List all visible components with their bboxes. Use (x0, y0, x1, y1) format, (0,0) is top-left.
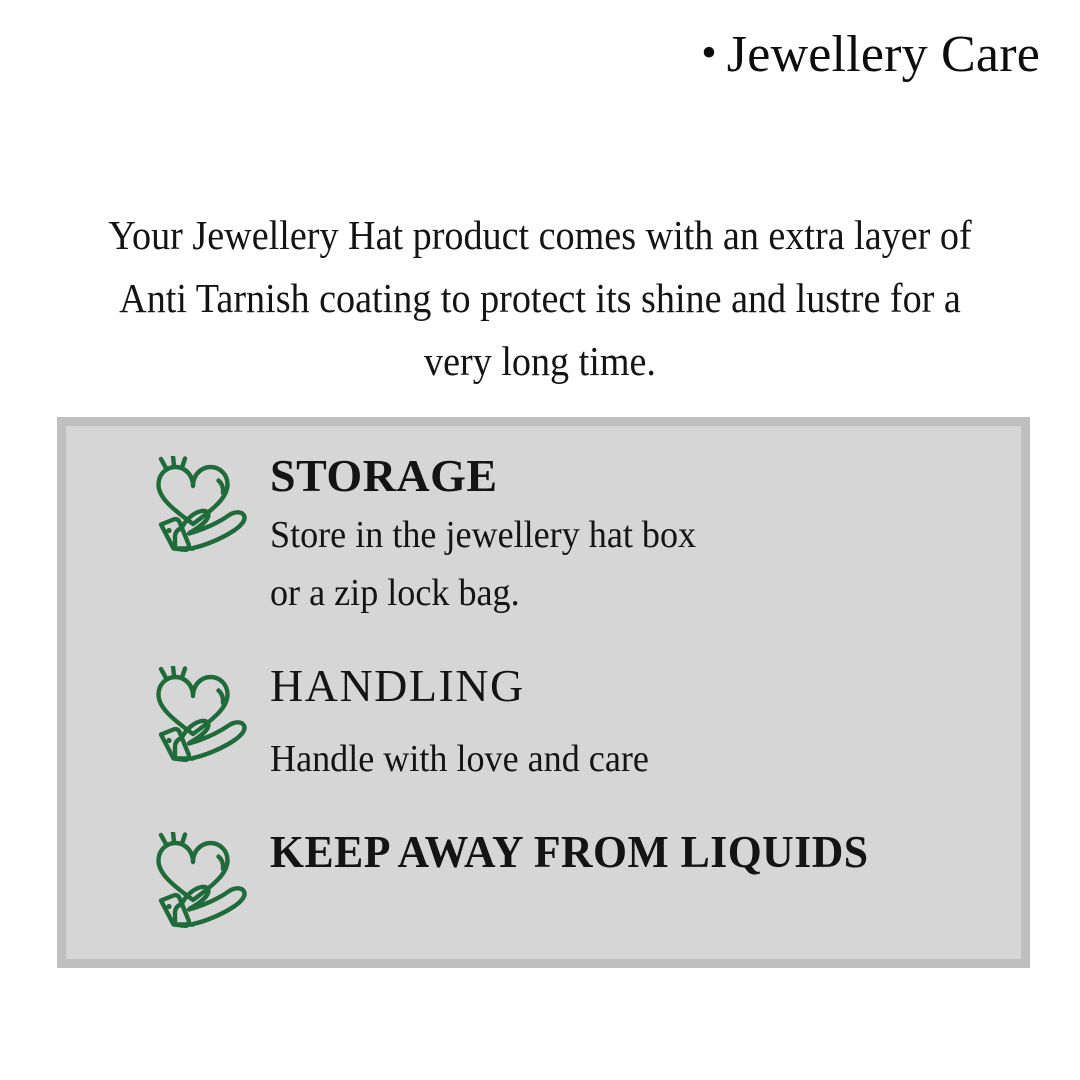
care-item-lines: Store in the jewellery hat box or a zip … (270, 506, 719, 622)
care-item-text: STORAGE Store in the jewellery hat box o… (270, 450, 719, 622)
care-item-keep-away-from-liquids: KEEP AWAY FROM LIQUIDS (146, 826, 900, 928)
hand-holding-heart-icon (146, 832, 250, 928)
care-item-lines: Handle with love and care (270, 730, 669, 788)
care-instructions-list: STORAGE Store in the jewellery hat box o… (66, 426, 1021, 959)
care-item-text: HANDLING Handle with love and care (270, 660, 669, 788)
care-item-line: Handle with love and care (270, 730, 649, 788)
care-item-line: or a zip lock bag. (270, 564, 696, 622)
jewellery-care-page: •Jewellery Care Your Jewellery Hat produ… (0, 0, 1080, 1080)
care-item-storage: STORAGE Store in the jewellery hat box o… (146, 450, 719, 622)
care-item-handling: HANDLING Handle with love and care (146, 660, 669, 788)
page-title-label: Jewellery Care (727, 26, 1040, 83)
care-item-heading: HANDLING (270, 662, 669, 710)
care-item-heading: STORAGE (270, 452, 719, 500)
care-item-text: KEEP AWAY FROM LIQUIDS (270, 826, 900, 876)
care-instructions-card: STORAGE Store in the jewellery hat box o… (57, 417, 1030, 968)
care-item-heading: KEEP AWAY FROM LIQUIDS (270, 828, 869, 876)
hand-holding-heart-icon (146, 456, 250, 552)
page-title-text: •Jewellery Care (701, 26, 1040, 83)
page-title: •Jewellery Care (0, 26, 1040, 83)
care-item-line: Store in the jewellery hat box (270, 506, 696, 564)
bullet-icon: • (701, 31, 717, 75)
hand-holding-heart-icon (146, 666, 250, 762)
intro-paragraph: Your Jewellery Hat product comes with an… (103, 204, 977, 393)
